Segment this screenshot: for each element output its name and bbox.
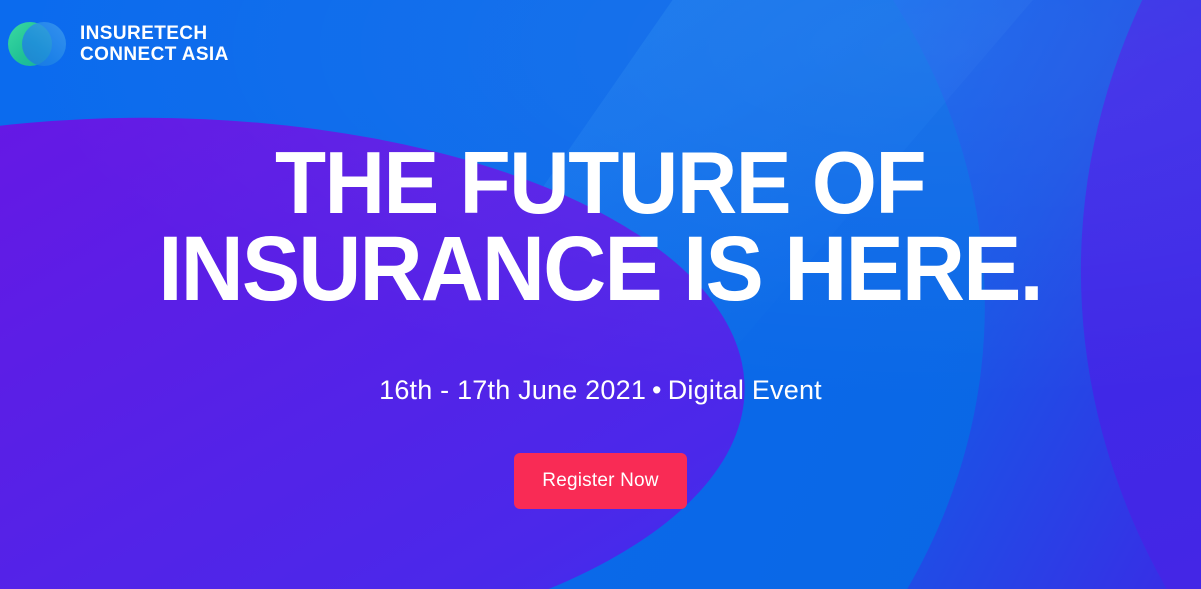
hero-banner: INSURETECH CONNECT ASIA THE FUTURE OF IN…: [0, 0, 1201, 589]
brand-name-line-2: CONNECT ASIA: [80, 44, 229, 65]
brand-name: INSURETECH CONNECT ASIA: [80, 23, 229, 66]
headline-line-2: INSURANCE IS HERE.: [159, 225, 1043, 314]
overlapping-circles-logo-icon: [6, 13, 68, 75]
page-title: THE FUTURE OF INSURANCE IS HERE.: [159, 140, 1043, 315]
brand-logo[interactable]: INSURETECH CONNECT ASIA: [6, 13, 229, 75]
register-now-button[interactable]: Register Now: [514, 453, 686, 509]
event-details: 16th - 17th June 2021•Digital Event: [379, 375, 822, 406]
event-format: Digital Event: [668, 375, 822, 405]
bullet-separator-icon: •: [652, 375, 662, 406]
hero-content: THE FUTURE OF INSURANCE IS HERE. 16th - …: [0, 140, 1201, 509]
cta-container: Register Now: [514, 453, 686, 509]
headline-line-1: THE FUTURE OF: [159, 140, 1043, 225]
event-dates: 16th - 17th June 2021: [379, 375, 646, 405]
brand-name-line-1: INSURETECH: [80, 23, 229, 44]
